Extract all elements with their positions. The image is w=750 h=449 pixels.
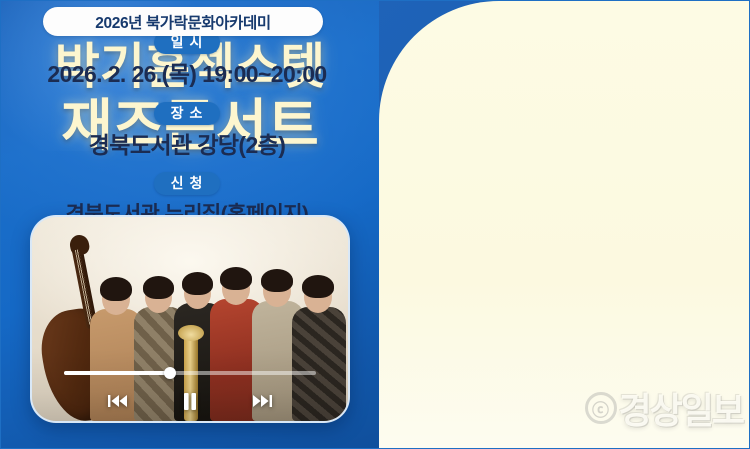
trumpet-bell: [178, 325, 204, 341]
info-label: 신 청: [154, 172, 221, 195]
academy-badge-label: 2026년 북가락문화아카데미: [95, 11, 270, 33]
skip-forward-icon[interactable]: [250, 391, 274, 411]
transport-controls: [32, 391, 348, 411]
player-controls-overlay: [32, 349, 348, 421]
pause-icon[interactable]: [178, 391, 202, 411]
info-group-datetime: 일 시 2026. 2. 26.(목) 19:00~20:00: [1, 31, 373, 89]
skip-backward-icon[interactable]: [106, 391, 130, 411]
info-value: 경북도서관 강당(2층): [1, 132, 373, 160]
media-player-card[interactable]: [30, 215, 350, 423]
progress-bar[interactable]: [64, 371, 316, 375]
info-group-venue: 장 소 경북도서관 강당(2층): [1, 102, 373, 160]
poster-root: 2026년 북가락문화아카데미 박기훈섹스텟 재즈콘서트: [0, 0, 750, 449]
right-panel: [379, 1, 750, 449]
progress-fill: [64, 371, 170, 375]
info-value: 2026. 2. 26.(목) 19:00~20:00: [1, 61, 373, 89]
academy-badge: 2026년 북가락문화아카데미: [43, 7, 323, 36]
progress-handle[interactable]: [164, 367, 176, 379]
info-label: 장 소: [154, 102, 221, 125]
